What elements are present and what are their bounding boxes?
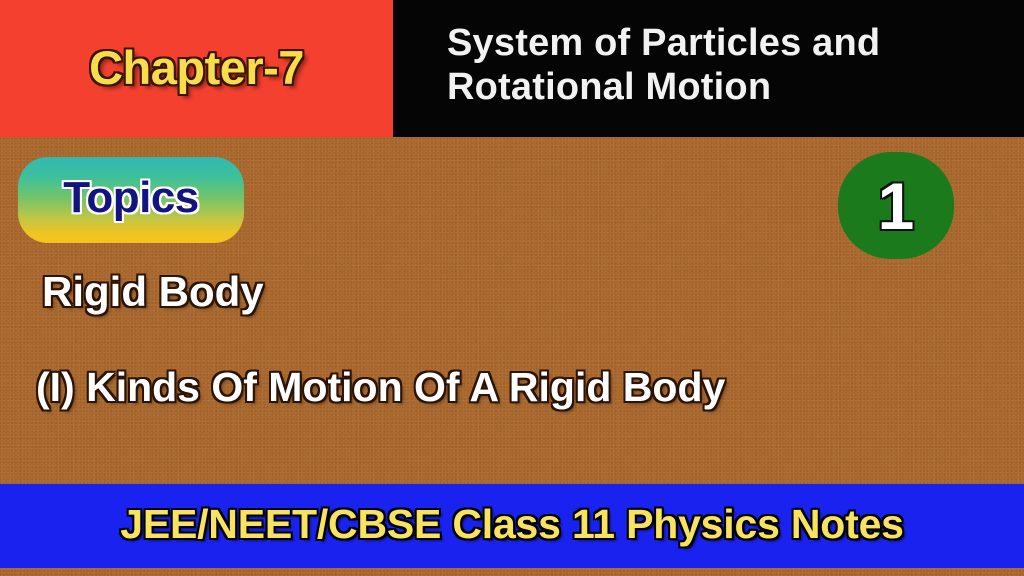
slide-number-value: 1 xyxy=(878,173,915,239)
topics-badge-label: Topics xyxy=(63,173,199,223)
chapter-label: Chapter-7 xyxy=(89,40,304,95)
slide-canvas: Chapter-7 System of Particles and Rotati… xyxy=(0,0,1024,576)
topics-badge: Topics xyxy=(18,157,244,243)
slide-number-badge: 1 xyxy=(838,152,954,259)
chapter-badge: Chapter-7 xyxy=(0,0,393,137)
footer-banner: JEE/NEET/CBSE Class 11 Physics Notes xyxy=(0,484,1024,568)
header-bar: Chapter-7 System of Particles and Rotati… xyxy=(0,0,1024,137)
chapter-title-line-2: Rotational Motion xyxy=(447,66,1006,110)
chapter-title-line-1: System of Particles and xyxy=(447,22,1006,66)
footer-bottom-strip xyxy=(0,568,1024,576)
footer-banner-label: JEE/NEET/CBSE Class 11 Physics Notes xyxy=(120,501,904,548)
chapter-title-block: System of Particles and Rotational Motio… xyxy=(393,0,1024,137)
topic-item-secondary: (I) Kinds Of Motion Of A Rigid Body xyxy=(0,364,1024,411)
topic-list: Rigid Body (I) Kinds Of Motion Of A Rigi… xyxy=(0,268,1024,411)
topic-item-primary: Rigid Body xyxy=(0,268,1024,316)
